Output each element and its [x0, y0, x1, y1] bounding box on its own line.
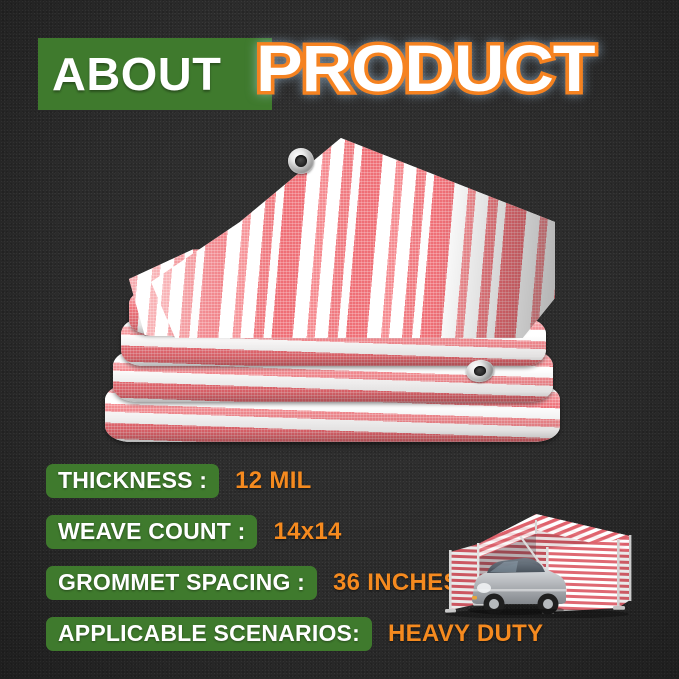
spec-label-thickness: THICKNESS : — [46, 464, 219, 498]
spec-row: WEAVE COUNT : 14x14 — [46, 515, 342, 549]
spec-row: GROMMET SPACING : 36 INCHES — [46, 566, 460, 600]
grommet-icon — [288, 148, 314, 174]
product-photo-folded-tarp — [95, 132, 565, 460]
inset-carport-illustration — [432, 500, 646, 618]
spec-value-weave-count: 14x14 — [273, 518, 341, 546]
spec-label-applicable-scenarios: APPLICABLE SCENARIOS: — [46, 617, 372, 651]
spec-value-thickness: 12 MIL — [235, 467, 311, 495]
page-header: ABOUT PRODUCT — [0, 0, 679, 130]
header-title-product: PRODUCT — [256, 26, 594, 110]
spec-value-applicable-scenarios: HEAVY DUTY — [388, 620, 543, 648]
header-title-about: ABOUT — [52, 44, 271, 104]
infographic-page: ABOUT PRODUCT THICKNESS : 12 MIL — [0, 0, 679, 679]
tarp-fold-layer-top — [151, 138, 555, 338]
spec-label-weave-count: WEAVE COUNT : — [46, 515, 257, 549]
spec-label-grommet-spacing: GROMMET SPACING : — [46, 566, 317, 600]
spec-row: APPLICABLE SCENARIOS: HEAVY DUTY — [46, 617, 543, 651]
spec-row: THICKNESS : 12 MIL — [46, 464, 312, 498]
